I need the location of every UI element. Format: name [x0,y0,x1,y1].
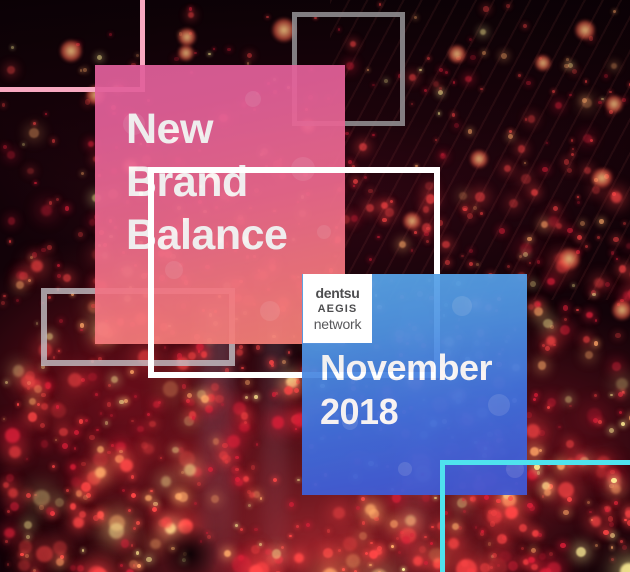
logo-line-aegis: AEGIS [318,303,358,315]
date-line-2: 2018 [320,390,492,434]
date-line-1: November [320,346,492,390]
slide-canvas: New Brand Balance November 2018 dentsu A… [0,0,630,572]
date-text: November 2018 [320,346,492,434]
outline-frame-cyan [440,460,630,572]
title-line-1: New [126,103,287,156]
dentsu-aegis-network-logo: dentsu AEGIS network [303,274,372,343]
logo-line-dentsu: dentsu [315,286,359,301]
person-silhouette [150,505,230,572]
logo-line-network: network [314,317,362,332]
